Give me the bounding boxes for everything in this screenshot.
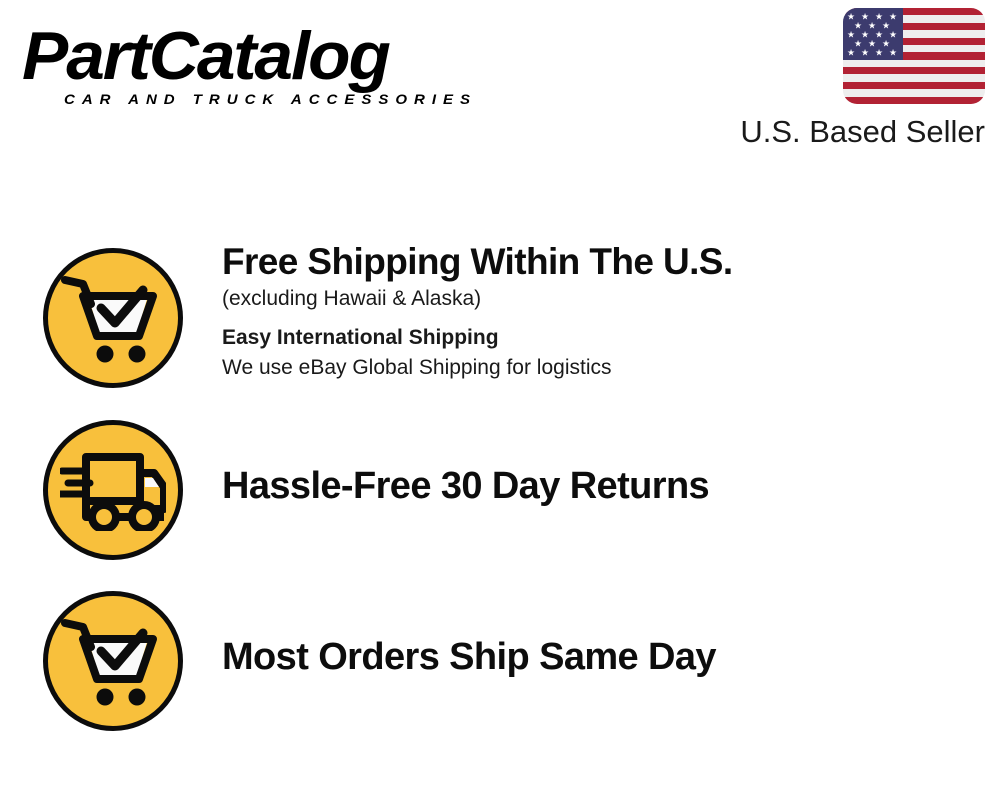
us-flag-icon: ★ ★ ★ ★ ★ ★ ★ ★ ★ ★ ★ ★ ★ ★ ★ ★ ★ ★ (843, 8, 985, 104)
benefit-text: Hassle-Free 30 Day Returns (222, 464, 992, 508)
us-based-seller-badge: ★ ★ ★ ★ ★ ★ ★ ★ ★ ★ ★ ★ ★ ★ ★ ★ ★ ★ U.S.… (715, 8, 985, 151)
brand-wordmark: PartCatalog (22, 24, 501, 88)
benefit-subdetail: We use eBay Global Shipping for logistic… (222, 353, 992, 383)
flag-stripe (843, 82, 985, 89)
flag-star: ★ (875, 49, 883, 58)
flag-canton: ★ ★ ★ ★ ★ ★ ★ ★ ★ ★ ★ ★ ★ ★ ★ ★ ★ ★ (843, 8, 903, 60)
flag-stripe (843, 89, 985, 96)
brand-logo[interactable]: PartCatalog CAR AND TRUCK ACCESSORIES (22, 24, 492, 109)
benefit-subheading: Easy International Shipping (222, 323, 992, 353)
flag-stripe (843, 67, 985, 74)
flag-star: ★ (889, 13, 897, 22)
flag-star: ★ (861, 49, 869, 58)
brand-tagline: CAR AND TRUCK ACCESSORIES (64, 92, 492, 108)
shopping-cart-check-icon (43, 248, 183, 388)
flag-stripe (843, 97, 985, 104)
flag-stripe (843, 74, 985, 81)
benefit-title: Most Orders Ship Same Day (222, 635, 992, 679)
flag-stripe (843, 60, 985, 67)
flag-star: ★ (847, 49, 855, 58)
benefit-subnote: (excluding Hawaii & Alaska) (222, 284, 992, 314)
us-based-seller-label: U.S. Based Seller (715, 113, 985, 151)
benefit-title: Hassle-Free 30 Day Returns (222, 464, 992, 508)
benefit-title: Free Shipping Within The U.S. (222, 240, 992, 284)
shopping-cart-check-icon (43, 591, 183, 731)
benefit-text: Most Orders Ship Same Day (222, 635, 992, 679)
flag-star: ★ (889, 31, 897, 40)
benefit-text: Free Shipping Within The U.S. (excluding… (222, 240, 992, 383)
page-header: PartCatalog CAR AND TRUCK ACCESSORIES ★ … (0, 0, 1000, 175)
flag-star: ★ (889, 49, 897, 58)
delivery-truck-icon (43, 420, 183, 560)
